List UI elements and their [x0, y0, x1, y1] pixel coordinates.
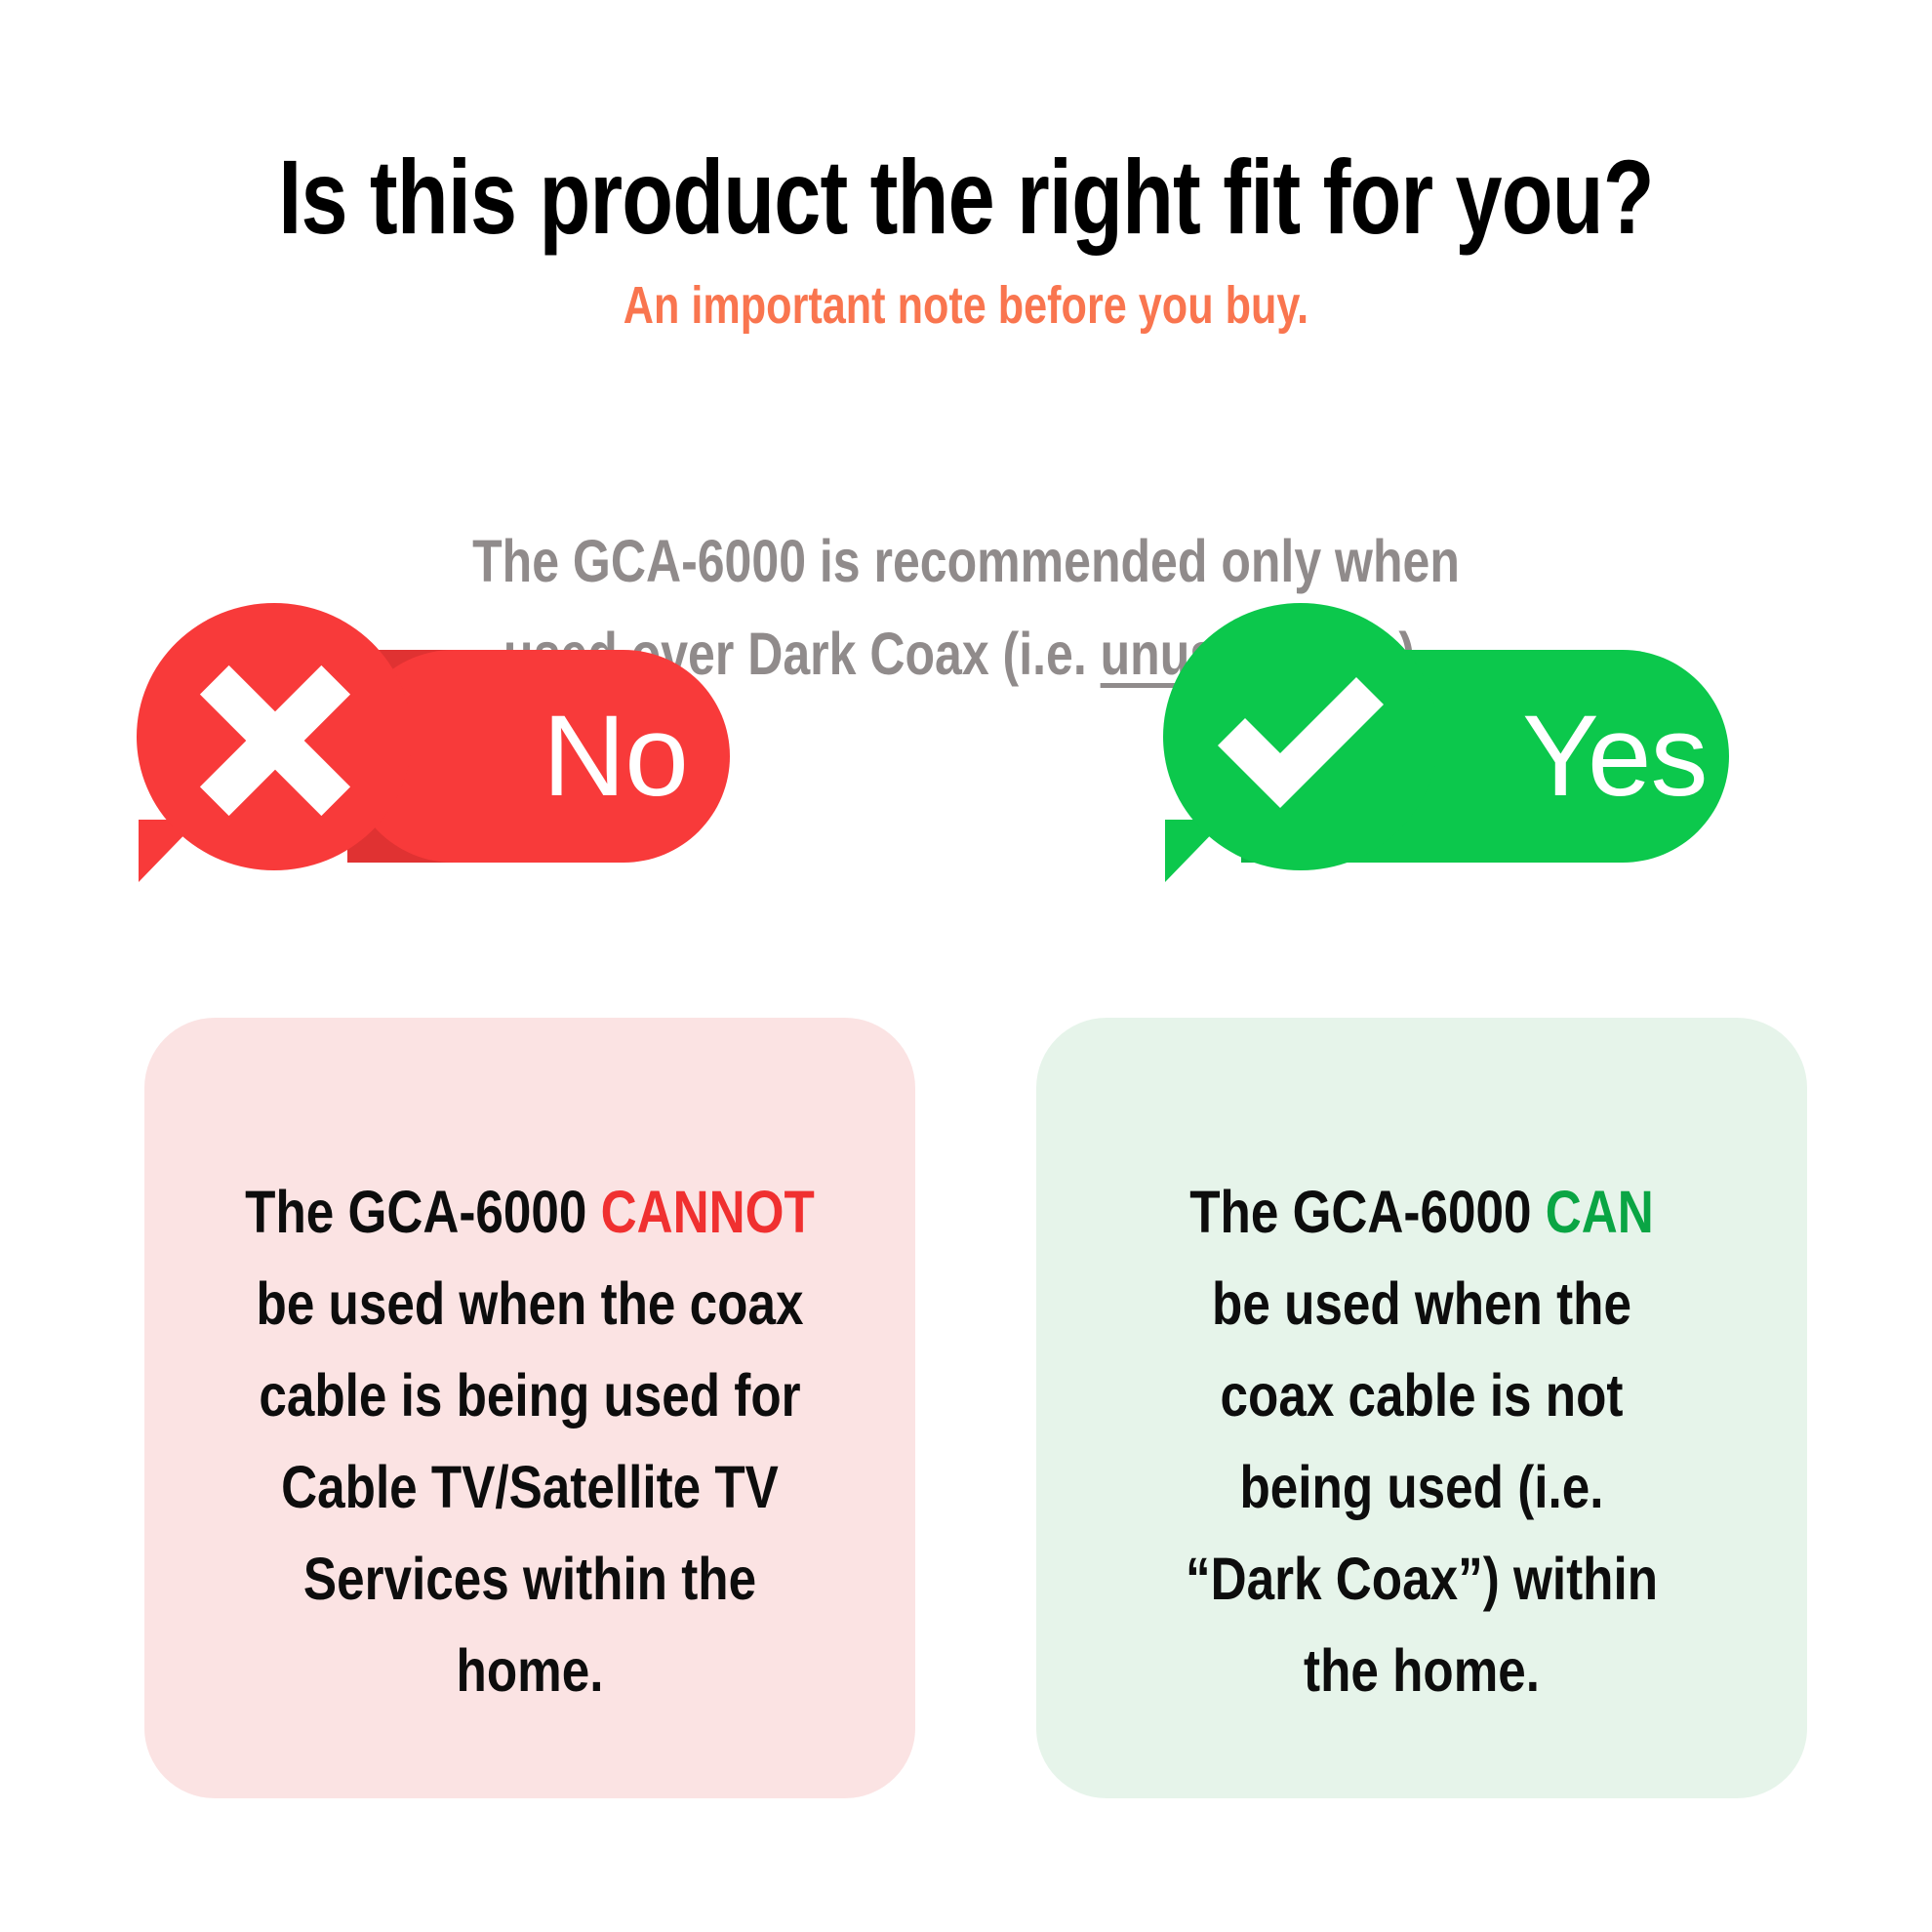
card-positive-line-1: The GCA-6000 CAN: [1121, 1166, 1723, 1258]
badge-no-label: No: [543, 699, 688, 814]
badge-no-bubble: [137, 603, 412, 870]
card-positive-line-2: be used when the: [1121, 1258, 1723, 1349]
card-negative: The GCA-6000 CANNOT be used when the coa…: [144, 1018, 915, 1798]
card-negative-line-1-pre: The GCA-6000: [245, 1179, 600, 1245]
comparison-columns: The GCA-6000 CANNOT be used when the coa…: [0, 0, 1932, 1932]
card-positive-line-4: being used (i.e.: [1121, 1441, 1723, 1533]
card-negative-line-5: Services within the: [229, 1533, 831, 1625]
card-positive-line-3: coax cable is not: [1121, 1349, 1723, 1441]
card-negative-line-1: The GCA-6000 CANNOT: [229, 1166, 831, 1258]
card-positive-highlight: CAN: [1546, 1179, 1654, 1245]
card-negative-line-2: be used when the coax: [229, 1258, 831, 1349]
card-positive-line-1-pre: The GCA-6000: [1189, 1179, 1545, 1245]
card-negative-line-4: Cable TV/Satellite TV: [229, 1441, 831, 1533]
card-negative-line-3: cable is being used for: [229, 1349, 831, 1441]
card-positive: The GCA-6000 CAN be used when the coax c…: [1036, 1018, 1807, 1798]
card-positive-line-5: “Dark Coax”) within: [1121, 1533, 1723, 1625]
badge-no: No: [115, 603, 925, 896]
column-positive: The GCA-6000 CAN be used when the coax c…: [1007, 0, 1817, 1932]
badge-yes-label: Yes: [1522, 699, 1708, 814]
cross-icon: [137, 603, 412, 870]
card-negative-highlight: CANNOT: [601, 1179, 815, 1245]
card-negative-line-6: home.: [229, 1625, 831, 1716]
badge-yes: Yes: [1007, 603, 1817, 896]
card-positive-text: The GCA-6000 CAN be used when the coax c…: [1036, 1166, 1807, 1716]
card-positive-line-6: the home.: [1121, 1625, 1723, 1716]
badge-yes-bubble: [1163, 603, 1438, 870]
column-negative: The GCA-6000 CANNOT be used when the coa…: [115, 0, 925, 1932]
infographic-page: Is this product the right fit for you? A…: [0, 0, 1932, 1932]
card-negative-text: The GCA-6000 CANNOT be used when the coa…: [144, 1166, 915, 1716]
check-icon: [1163, 603, 1438, 870]
